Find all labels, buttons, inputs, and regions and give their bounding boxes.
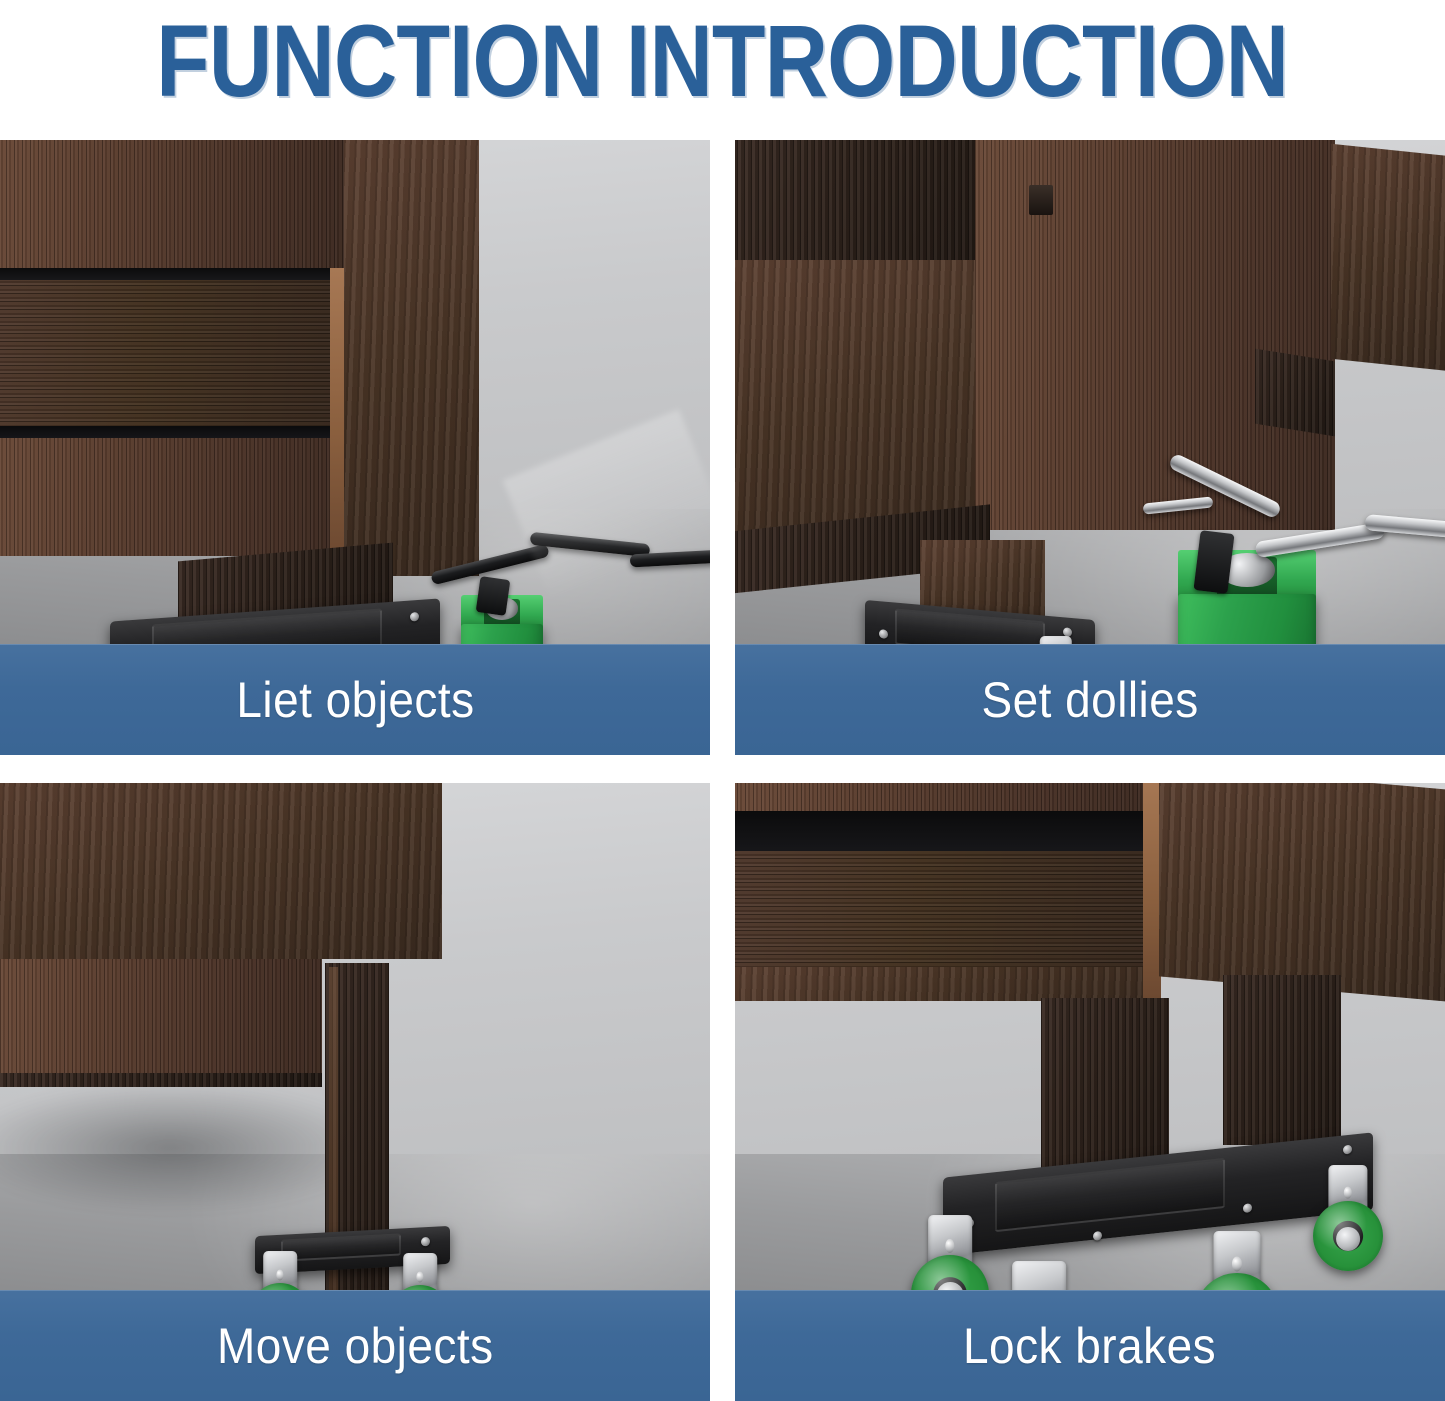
header-banner: FUNCTION INTRODUCTION bbox=[0, 0, 1445, 118]
cabinet-handle bbox=[1029, 185, 1053, 215]
cabinet-leg-right bbox=[1223, 975, 1341, 1145]
panel-lock-brakes[interactable]: Lock brakes bbox=[735, 783, 1445, 1401]
page-title: FUNCTION INTRODUCTION bbox=[157, 6, 1289, 112]
caster-hub bbox=[1336, 1227, 1360, 1251]
plate-bolt bbox=[410, 612, 419, 622]
cabinet-right-wing bbox=[1331, 144, 1445, 372]
cabinet-front-louvers bbox=[735, 851, 1149, 971]
cabinet-left-side bbox=[735, 260, 980, 540]
caption-bar: Liet objects bbox=[0, 644, 710, 755]
caption-bar: Lock brakes bbox=[735, 1290, 1445, 1401]
dresser-top-drawer bbox=[0, 140, 345, 270]
caption-bar: Move objects bbox=[0, 1290, 710, 1401]
table-cast-shadow bbox=[0, 1083, 380, 1213]
panel-move-objects[interactable]: Move objects bbox=[0, 783, 710, 1401]
caption-label: Move objects bbox=[217, 1317, 494, 1375]
panel-grid: Liet objects bbox=[0, 140, 1445, 1401]
cabinet-shelf-gap bbox=[735, 811, 1149, 853]
dolly-plate-inset bbox=[995, 1158, 1225, 1232]
caption-label: Lock brakes bbox=[963, 1317, 1216, 1375]
table-skirt-shadowline bbox=[0, 1073, 322, 1087]
caption-label: Set dollies bbox=[981, 671, 1198, 729]
plate-bolt bbox=[1343, 1145, 1352, 1155]
dresser-bottom-drawer bbox=[0, 438, 338, 556]
dresser-front-edge-highlight bbox=[330, 268, 344, 568]
plate-bolt bbox=[421, 1237, 430, 1246]
drawer-gap-upper bbox=[0, 268, 335, 280]
cabinet-top-panel bbox=[735, 140, 980, 265]
table-top-apron bbox=[0, 783, 442, 959]
panel-set-dollies[interactable]: Set dollies bbox=[735, 140, 1445, 755]
plate-bolt bbox=[1243, 1203, 1252, 1213]
dresser-middle-drawer bbox=[0, 280, 335, 430]
caster-wheel bbox=[1313, 1165, 1383, 1271]
lever-foot-plate bbox=[1193, 530, 1234, 594]
plate-bolt bbox=[879, 629, 888, 639]
table-skirt-fluted bbox=[0, 959, 322, 1083]
cabinet-bottom-rail bbox=[1255, 349, 1335, 437]
cabinet-front-lower bbox=[735, 967, 1149, 1001]
panel-liet-objects[interactable]: Liet objects bbox=[0, 140, 710, 755]
caption-label: Liet objects bbox=[236, 671, 474, 729]
lever-foot-plate bbox=[476, 576, 511, 616]
cabinet-top-fluted bbox=[735, 783, 1149, 813]
caption-bar: Set dollies bbox=[735, 644, 1445, 755]
dresser-side-panel bbox=[344, 140, 479, 576]
cabinet-right-side bbox=[1159, 783, 1445, 1002]
